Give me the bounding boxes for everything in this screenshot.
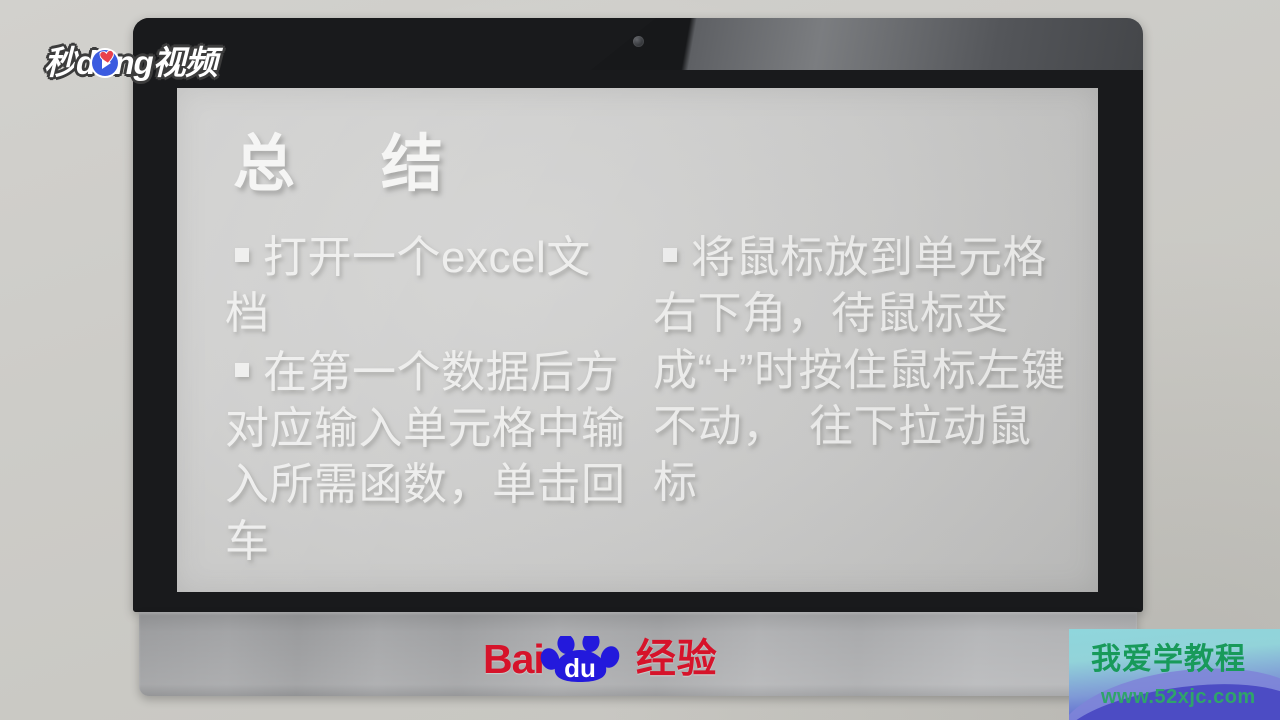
monitor-screen: 总 结 打开一个excel文档 在第一个数据后方对应输入单元格中输入所需函数，单…	[177, 88, 1098, 592]
page-title: 总 结	[233, 134, 455, 196]
left-column: 打开一个excel文档 在第一个数据后方对应输入单元格中输入所需函数，单击回车	[225, 230, 627, 572]
webcam-icon	[633, 36, 644, 47]
heart-icon	[97, 35, 113, 50]
list-item-label: 将鼠标放到单元格右下角，待鼠标变成“+”时按住鼠标左键不动， 往下拉动鼠标	[653, 233, 1066, 507]
baidu-bai-text: Bai	[483, 639, 544, 680]
site-watermark: 我爱学教程 www.52xjc.com	[1069, 629, 1280, 720]
baidu-jingyan-logo: Bai du 经验	[483, 637, 718, 681]
list-item-label: 在第一个数据后方对应输入单元格中输入所需函数，单击回车	[225, 348, 626, 566]
brand-letters-ng: ng	[114, 44, 152, 81]
screenshot-stage: 总 结 打开一个excel文档 在第一个数据后方对应输入单元格中输入所需函数，单…	[0, 0, 1280, 720]
list-item-label: 打开一个excel文档	[225, 233, 591, 338]
baidu-du-text: du	[564, 653, 596, 682]
right-column: 将鼠标放到单元格右下角，待鼠标变成“+”时按住鼠标左键不动， 往下拉动鼠标	[653, 230, 1073, 514]
bullet-dot-icon	[235, 248, 249, 262]
baidu-jingyan-text: 经验	[636, 639, 718, 679]
list-item: 打开一个excel文档	[225, 230, 627, 343]
list-item: 在第一个数据后方对应输入单元格中输入所需函数，单击回车	[225, 345, 627, 570]
monitor: 总 结 打开一个excel文档 在第一个数据后方对应输入单元格中输入所需函数，单…	[133, 18, 1143, 696]
miaodong-video-logo: 秒dong视频	[44, 46, 217, 79]
list-item: 将鼠标放到单元格右下角，待鼠标变成“+”时按住鼠标左键不动， 往下拉动鼠标	[653, 230, 1073, 512]
baidu-paw-icon: du	[540, 636, 632, 682]
brand-letter-o: o	[95, 46, 114, 79]
presentation-slide: 总 结 打开一个excel文档 在第一个数据后方对应输入单元格中输入所需函数，单…	[177, 88, 1098, 592]
brand-suffix: 视频	[153, 44, 217, 81]
bullet-dot-icon	[663, 248, 677, 262]
brand-prefix: 秒	[44, 44, 76, 81]
bullet-dot-icon	[235, 363, 249, 377]
watermark-title: 我爱学教程	[1091, 645, 1246, 675]
watermark-url: www.52xjc.com	[1101, 687, 1256, 707]
